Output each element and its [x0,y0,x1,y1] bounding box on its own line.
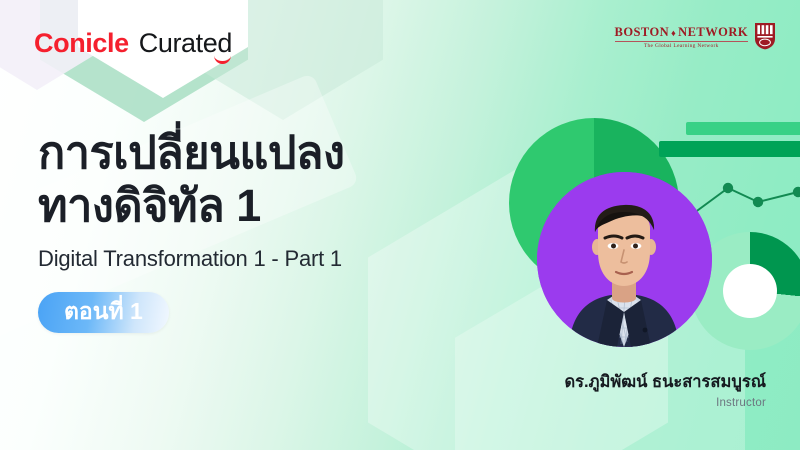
course-copy-block: การเปลี่ยนแปลง ทางดิจิทัล 1 Digital Tran… [38,126,508,333]
partner-logo-word-1: BOSTON [615,25,670,39]
partner-logo-word-2: NETWORK [678,25,748,39]
instructor-photo [537,172,712,347]
bar-decoration-top [686,122,800,135]
course-title-th-line2: ทางดิจิทัล 1 [38,180,261,231]
course-subtitle-en: Digital Transformation 1 - Part 1 [38,246,508,272]
partner-logo-divider [615,41,748,42]
instructor-name: ดร.ภูมิพัฒน์ ธนะสารสมบูรณ์ [564,373,766,393]
course-title-th-line1: การเปลี่ยนแปลง [38,127,344,178]
shield-icon [754,22,776,50]
episode-badge: ตอนที่ 1 [38,292,169,333]
page-title: การเปลี่ยนแปลง ทางดิจิทัล 1 [38,126,508,232]
course-cover-slide: Conicle Curated BOSTON♦NETWORK The Globa… [0,0,800,450]
partner-logo-title: BOSTON♦NETWORK [615,26,748,39]
donut-chart-hole [723,264,777,318]
brand-logo: Conicle Curated [34,28,232,59]
partner-logo-tagline: The Global Learning Network [644,44,719,49]
partner-logo-text: BOSTON♦NETWORK The Global Learning Netwo… [615,22,748,49]
instructor-caption: ดร.ภูมิพัฒน์ ธนะสารสมบูรณ์ Instructor [564,373,766,409]
instructor-role: Instructor [564,397,766,409]
bar-decoration-bottom [659,141,800,157]
instructor-avatar [537,172,712,347]
diamond-icon: ♦ [671,28,676,38]
partner-logo-boston-network: BOSTON♦NETWORK The Global Learning Netwo… [615,22,776,50]
brand-name-conicle: Conicle [34,28,131,59]
